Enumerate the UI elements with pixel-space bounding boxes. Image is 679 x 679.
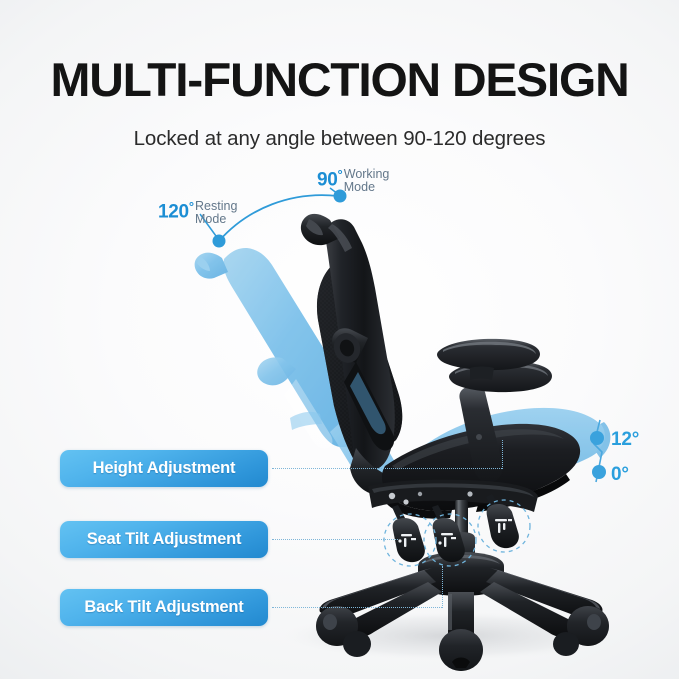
angle-mode-resting-line1: Resting	[195, 199, 237, 213]
angle-value-120: 120	[158, 201, 189, 222]
connector-height	[272, 468, 502, 469]
angle-callout-resting: 120°RestingMode	[158, 200, 237, 227]
feature-label-text: Seat Tilt Adjustment	[87, 530, 242, 549]
angle-callout-working: 90°WorkingMode	[317, 168, 389, 195]
feature-label-text: Back Tilt Adjustment	[84, 598, 243, 617]
angle-mode-resting-line2: Mode	[195, 212, 226, 226]
dot-tilt-0	[592, 465, 606, 479]
tilt-marker-12: 12°	[611, 430, 639, 449]
degree-symbol-90: °	[338, 167, 343, 182]
angle-value-90: 90	[317, 169, 338, 190]
connector-back-tilt	[272, 607, 442, 608]
lever-highlight-2	[424, 514, 476, 566]
lever-highlight-3	[478, 500, 530, 552]
connector-height-vertical	[502, 440, 503, 469]
degree-symbol-120: °	[189, 199, 194, 214]
dot-120-resting	[213, 235, 226, 248]
page-title: MULTI-FUNCTION DESIGN	[0, 56, 679, 103]
angle-mode-working: WorkingMode	[344, 168, 390, 195]
feature-label-back-tilt-adjustment[interactable]: Back Tilt Adjustment	[60, 589, 268, 626]
angle-mode-resting: RestingMode	[195, 200, 237, 227]
infographic-canvas: MULTI-FUNCTION DESIGN Locked at any angl…	[0, 0, 679, 679]
lever-highlight-1	[384, 514, 436, 566]
feature-label-seat-tilt-adjustment[interactable]: Seat Tilt Adjustment	[60, 521, 268, 558]
feature-label-text: Height Adjustment	[93, 459, 236, 478]
page-subtitle: Locked at any angle between 90-120 degre…	[0, 127, 679, 151]
angle-mode-working-line2: Mode	[344, 180, 375, 194]
connector-seat-tilt	[272, 539, 398, 540]
angle-mode-working-line1: Working	[344, 167, 390, 181]
dot-tilt-12	[590, 431, 604, 445]
tilt-marker-0: 0°	[611, 465, 629, 484]
connector-back-tilt-vertical	[442, 566, 443, 608]
feature-label-height-adjustment[interactable]: Height Adjustment	[60, 450, 268, 487]
